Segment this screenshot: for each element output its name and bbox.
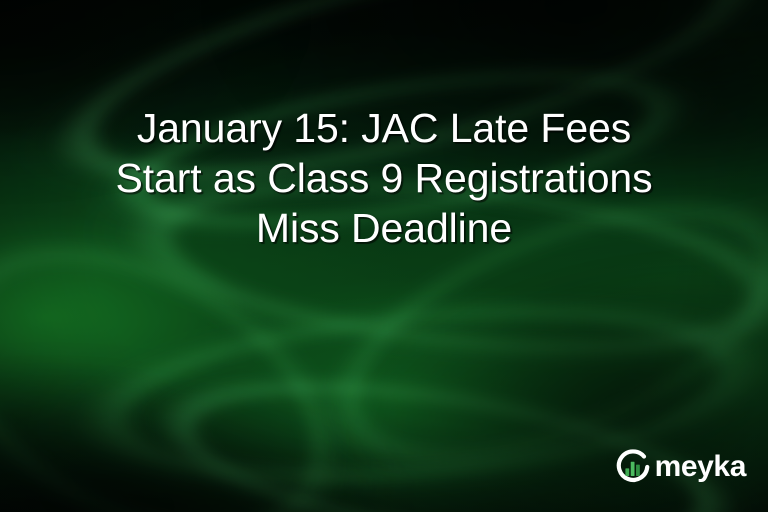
wave-streak-6 [102,8,768,512]
background-bands [0,0,768,512]
wave-streak-7 [0,27,567,512]
background-vignette [0,0,768,512]
news-banner: January 15: JAC Late Fees Start as Class… [0,0,768,512]
bar-chart-circle-icon [614,448,652,486]
headline-line-3: Miss Deadline [26,203,742,253]
headline-line-1: January 15: JAC Late Fees [26,103,742,153]
background-shadow-lobes [0,0,768,512]
headline-line-2: Start as Class 9 Registrations [26,153,742,203]
headline-block: January 15: JAC Late Fees Start as Class… [0,103,768,253]
background-base-gradient [0,0,768,512]
logo-wordmark: meyka [655,452,746,482]
background-wave-streaks [0,0,768,512]
shadow-lobe-3 [0,347,426,512]
meyka-logo[interactable]: meyka [614,448,746,486]
